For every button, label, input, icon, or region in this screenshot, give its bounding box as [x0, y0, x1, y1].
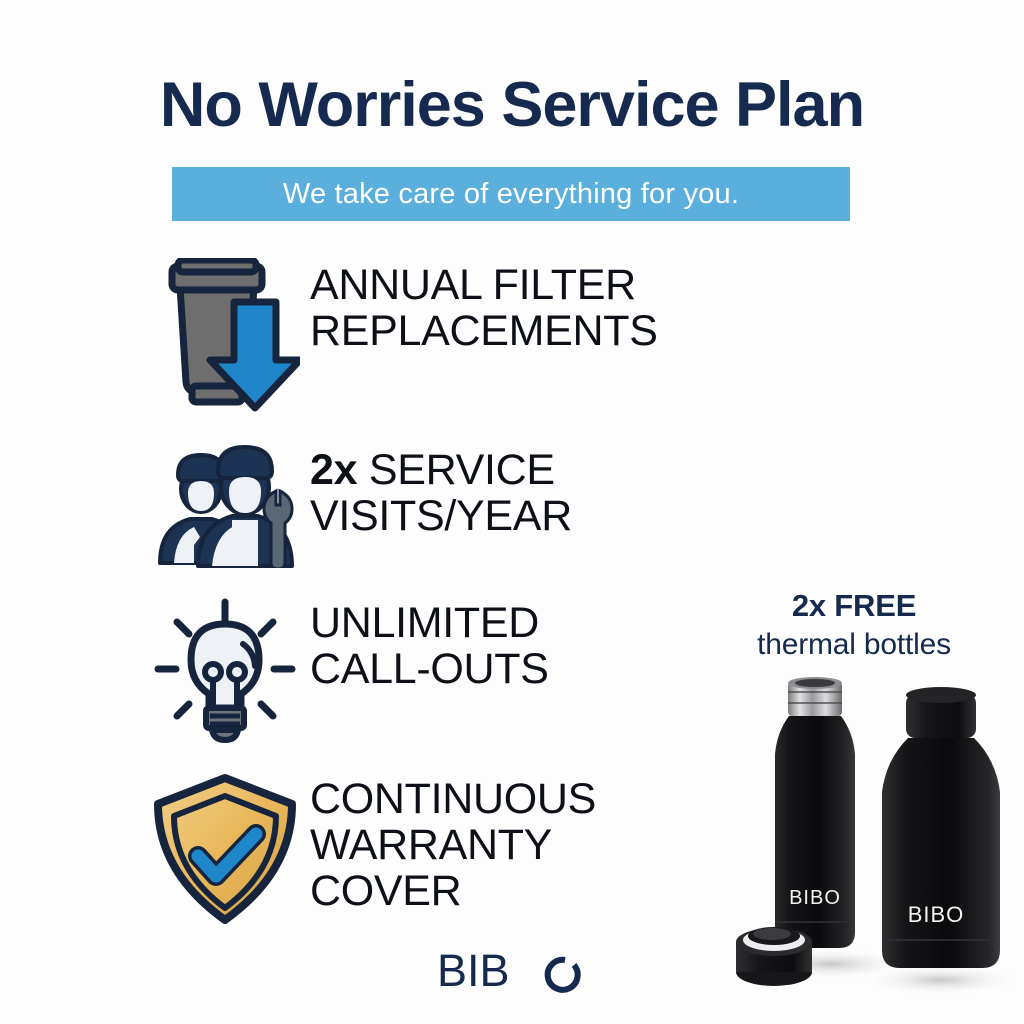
feature-item-service-visits: 2x SERVICE VISITS/YEAR	[140, 443, 572, 568]
technicians-wrench-icon	[140, 443, 310, 568]
promo-headline: 2x FREE	[694, 588, 1014, 624]
svg-text:BIBO: BIBO	[789, 887, 841, 909]
feature-line-2: VISITS/YEAR	[310, 493, 572, 539]
feature-line-1: ANNUAL FILTER	[310, 262, 658, 308]
feature-line-2: REPLACEMENTS	[310, 308, 658, 354]
feature-line-1-text: SERVICE	[357, 446, 555, 494]
feature-line-3: COVER	[310, 868, 596, 914]
feature-label: ANNUAL FILTER REPLACEMENTS	[310, 258, 658, 354]
feature-label: CONTINUOUS WARRANTY COVER	[310, 772, 596, 914]
filter-cartridge-download-icon	[140, 258, 310, 413]
feature-item-annual-filter: ANNUAL FILTER REPLACEMENTS	[140, 258, 658, 413]
feature-line-1: UNLIMITED	[310, 600, 549, 646]
feature-line-1: 2x SERVICE	[310, 447, 572, 493]
feature-label: 2x SERVICE VISITS/YEAR	[310, 443, 572, 539]
svg-text:BIB: BIB	[437, 948, 510, 996]
bibo-wordmark-logo: BIB	[0, 948, 1024, 1003]
shield-check-icon	[140, 772, 310, 927]
feature-item-warranty-cover: CONTINUOUS WARRANTY COVER	[140, 772, 596, 927]
svg-text:BIBO: BIBO	[908, 902, 965, 927]
feature-item-unlimited-callouts: UNLIMITED CALL-OUTS	[140, 596, 549, 746]
feature-count: 2x	[310, 446, 357, 494]
feature-line-2: WARRANTY	[310, 822, 596, 868]
promo-block: 2x FREE thermal bottles	[694, 588, 1014, 662]
feature-line-1: CONTINUOUS	[310, 776, 596, 822]
promo-subline: thermal bottles	[694, 628, 1014, 662]
feature-line-2: CALL-OUTS	[310, 646, 549, 692]
lightbulb-icon	[140, 596, 310, 746]
feature-label: UNLIMITED CALL-OUTS	[310, 596, 549, 692]
